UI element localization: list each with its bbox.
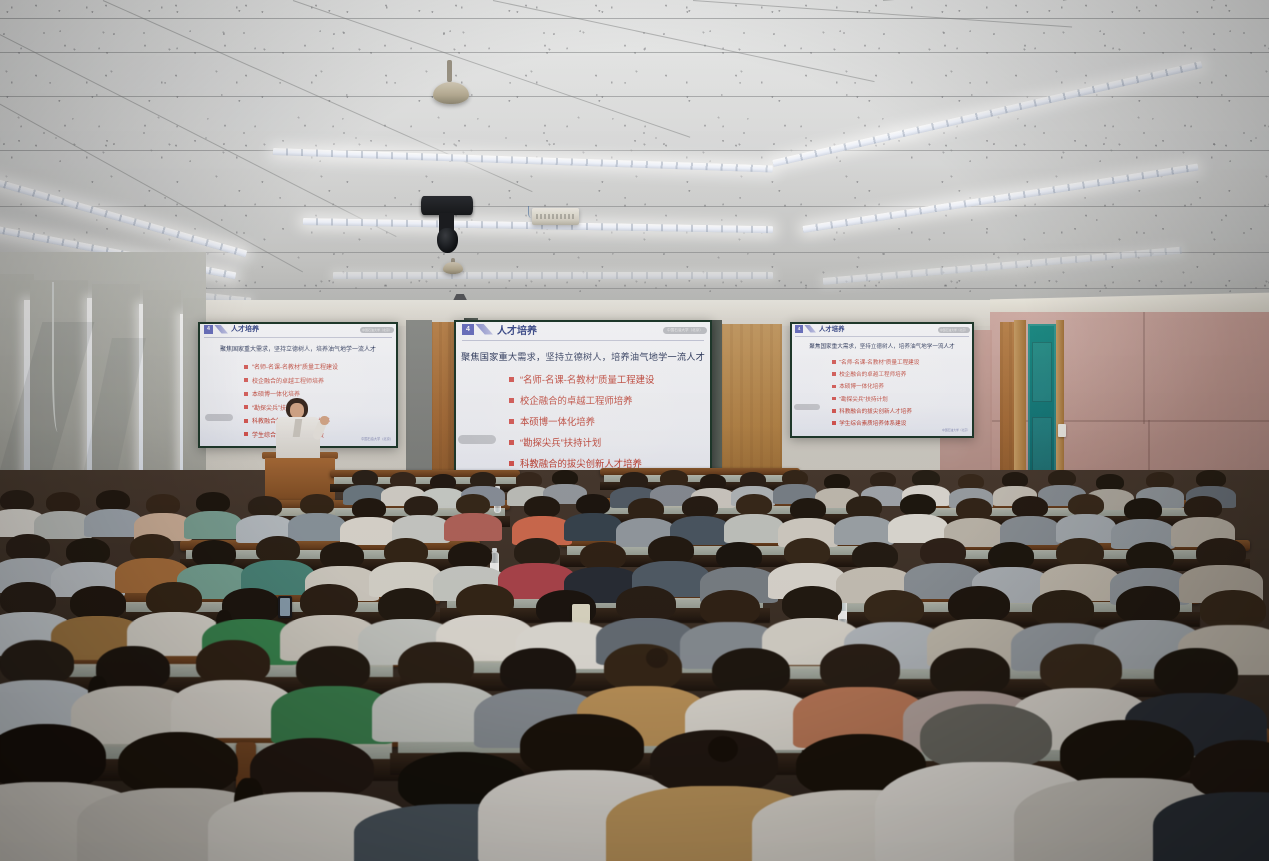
audience-member [296, 646, 370, 742]
conduit-pipe [52, 282, 66, 432]
lecture-hall-photograph: 4 人才培养 中国石油大学（北京） 聚焦国家重大需求，坚持立德树人，培养油气地学… [0, 0, 1269, 861]
ceiling-camera [421, 196, 473, 252]
audience-member [900, 494, 936, 542]
light-switch-plate[interactable] [1058, 424, 1066, 437]
fire-sprinkler [447, 60, 452, 82]
right-screen: 4 人才培养 中国石油大学（北京） 聚焦国家重大需求，坚持立德树人，培养油气地学… [790, 322, 974, 438]
audience-member [456, 494, 490, 540]
audience-member-foreground [1190, 740, 1269, 861]
audience-member [398, 642, 474, 740]
audience-member [196, 640, 270, 736]
audience-member [0, 640, 74, 736]
audience-member [820, 644, 900, 746]
audience-member [96, 490, 130, 536]
audience-member [256, 536, 300, 594]
audience-member [196, 492, 230, 538]
center-screen: 4 人才培养 中国石油大学（北京） 聚焦国家重大需求，坚持立德树人，培养油气地学… [454, 320, 712, 492]
audience-member [524, 496, 560, 544]
presenter [262, 398, 340, 458]
smartphone[interactable] [278, 596, 292, 618]
audience-member [404, 496, 438, 542]
audience-member [352, 498, 386, 544]
audience-member [300, 494, 334, 540]
audience-member [514, 538, 560, 598]
smoke-detector [433, 82, 469, 104]
audience-member [576, 494, 610, 540]
hair-bun [646, 648, 668, 668]
ceiling-speaker [532, 208, 579, 225]
hair-bun [708, 736, 738, 762]
audience-member [46, 492, 80, 538]
audience-member [1068, 494, 1104, 542]
audience-member [1012, 496, 1048, 544]
presenter-face [290, 403, 304, 418]
audience-member [846, 496, 882, 544]
audience-member [736, 494, 772, 542]
audience-member [96, 646, 170, 742]
audience-member [1124, 498, 1162, 548]
smoke-detector [443, 262, 463, 274]
audience-member [0, 490, 34, 536]
fluorescent-light-strip [333, 272, 773, 279]
speaker-wire [528, 206, 536, 218]
presenter-hand [320, 416, 329, 425]
audience-member [146, 582, 202, 654]
